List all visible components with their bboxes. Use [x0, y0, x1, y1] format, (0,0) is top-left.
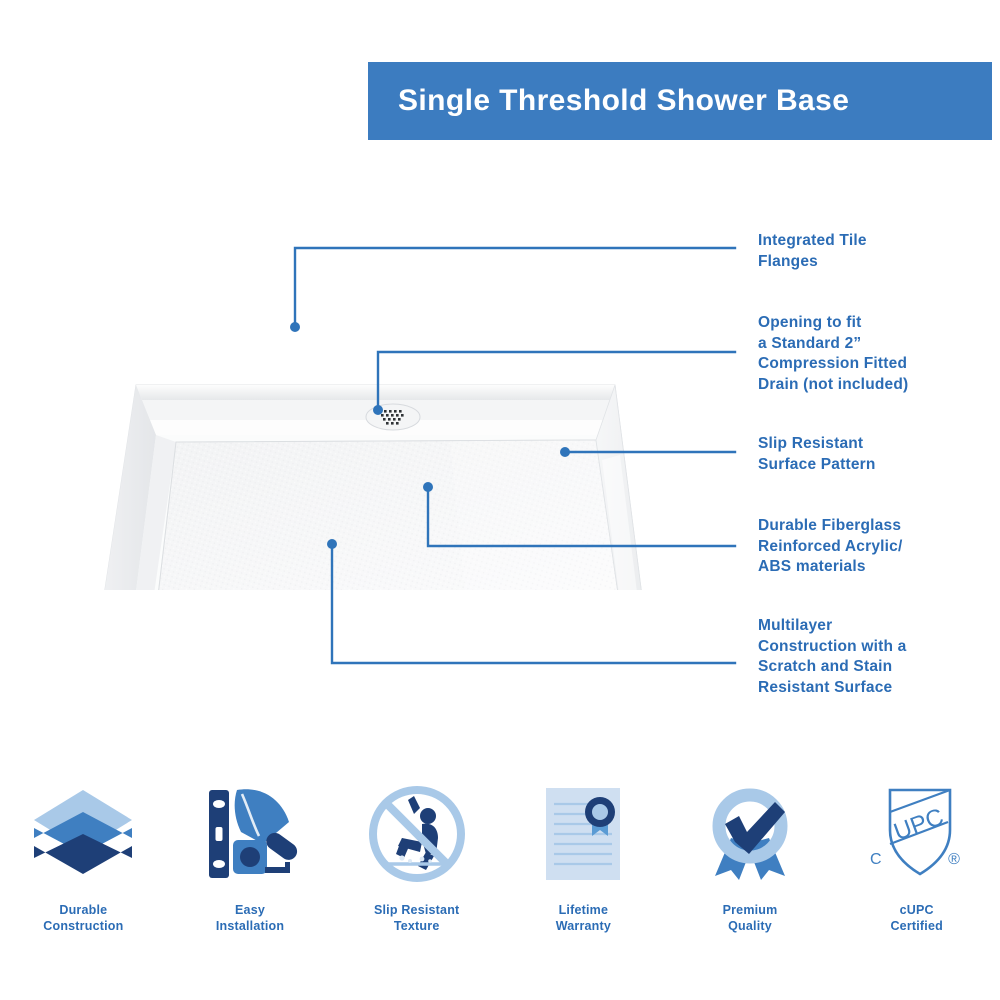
feature-premium-quality: Premium Quality	[667, 778, 834, 934]
callout-multilayer-construction: Multilayer Construction with a Scratch a…	[758, 616, 998, 698]
product-infographic: Single Threshold Shower Base	[0, 0, 1000, 1000]
feature-label-line: Certified	[890, 918, 943, 934]
header-banner: Single Threshold Shower Base	[368, 62, 992, 140]
drain-icon	[363, 400, 423, 434]
callout-drain-opening: Opening to fit a Standard 2” Compression…	[758, 313, 998, 395]
product-image	[30, 290, 730, 590]
callout-line: Reinforced Acrylic/	[758, 537, 998, 558]
callout-line: Resistant Surface	[758, 678, 998, 699]
feature-easy-installation: Easy Installation	[167, 778, 334, 934]
feature-label: cUPC Certified	[890, 902, 943, 934]
feature-label-line: Installation	[216, 918, 284, 934]
feature-label-line: Warranty	[556, 918, 611, 934]
feature-label-line: Quality	[723, 918, 778, 934]
check-rosette-icon	[695, 778, 805, 890]
no-slip-icon	[362, 778, 472, 890]
tools-icon	[195, 778, 305, 890]
feature-label-line: Lifetime	[556, 902, 611, 918]
callout-line: Compression Fitted	[758, 354, 998, 375]
upc-shield-icon: UPC C ®	[862, 778, 972, 890]
shield-registered-mark: ®	[948, 851, 960, 868]
feature-lifetime-warranty: Lifetime Warranty	[500, 778, 667, 934]
feature-label-line: Slip Resistant	[374, 902, 459, 918]
callout-integrated-tile-flanges: Integrated Tile Flanges	[758, 231, 998, 272]
callout-line: Opening to fit	[758, 313, 998, 334]
callout-line: a Standard 2”	[758, 334, 998, 355]
feature-durable-construction: Durable Construction	[0, 778, 167, 934]
feature-label: Lifetime Warranty	[556, 902, 611, 934]
callout-line: Flanges	[758, 252, 998, 273]
feature-slip-resistant: Slip Resistant Texture	[333, 778, 500, 934]
feature-label-line: Easy	[216, 902, 284, 918]
callout-line: Scratch and Stain	[758, 657, 998, 678]
callout-line: Integrated Tile	[758, 231, 998, 252]
callout-line: Surface Pattern	[758, 455, 998, 476]
feature-label-line: Durable	[43, 902, 123, 918]
callout-slip-resistant-surface: Slip Resistant Surface Pattern	[758, 434, 998, 475]
feature-label: Slip Resistant Texture	[374, 902, 459, 934]
feature-label: Easy Installation	[216, 902, 284, 934]
certificate-icon	[528, 778, 638, 890]
feature-label: Premium Quality	[723, 902, 778, 934]
callout-durable-materials: Durable Fiberglass Reinforced Acrylic/ A…	[758, 516, 998, 578]
callout-line: Durable Fiberglass	[758, 516, 998, 537]
callout-line: Multilayer	[758, 616, 998, 637]
feature-label-line: cUPC	[890, 902, 943, 918]
callout-line: Construction with a	[758, 637, 998, 658]
callout-line: Slip Resistant	[758, 434, 998, 455]
feature-cupc-certified: UPC C ® cUPC Certified	[833, 778, 1000, 934]
page-title: Single Threshold Shower Base	[368, 84, 849, 118]
callout-line: Drain (not included)	[758, 375, 998, 396]
shield-left-letter: C	[870, 851, 882, 868]
feature-badge-row: Durable Construction	[0, 778, 1000, 968]
layers-icon	[28, 778, 138, 890]
feature-label-line: Construction	[43, 918, 123, 934]
feature-label-line: Texture	[374, 918, 459, 934]
feature-label: Durable Construction	[43, 902, 123, 934]
callout-line: ABS materials	[758, 557, 998, 578]
feature-label-line: Premium	[723, 902, 778, 918]
